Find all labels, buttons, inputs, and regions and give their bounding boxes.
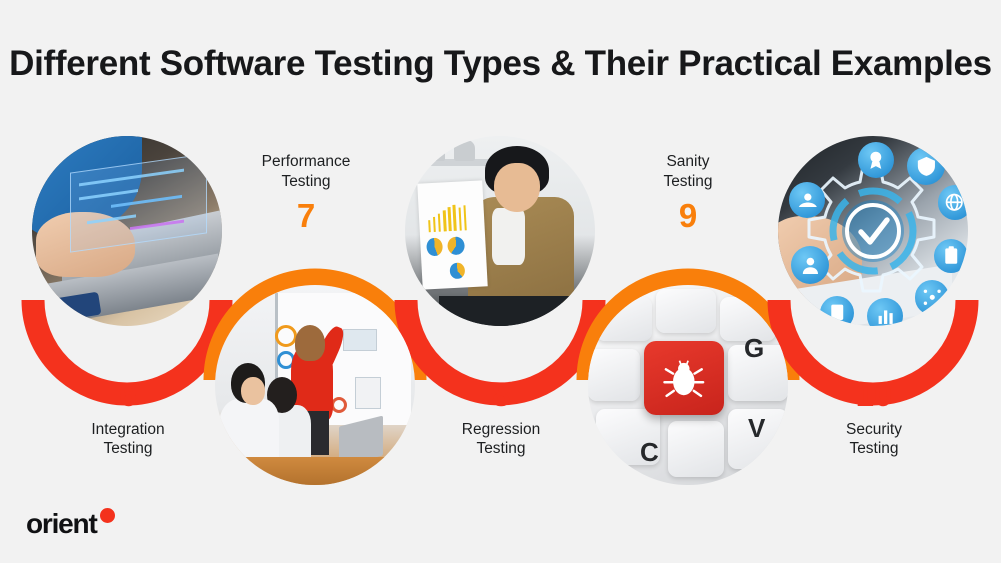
step-number-7: 7 xyxy=(216,199,396,234)
hand-gear-icon xyxy=(789,182,825,218)
step-label-integration-testing: 6 Integration Testing xyxy=(38,378,218,459)
step-label-sanity-testing: Sanity Testing 9 xyxy=(598,152,778,234)
step-caption-line2-6: Testing xyxy=(103,440,152,457)
network-nodes-icon xyxy=(915,280,949,314)
step-image-regression-testing xyxy=(405,136,595,326)
keyboard-key-v: V xyxy=(748,413,765,444)
step-caption-line1-8: Regression xyxy=(462,421,540,438)
step-label-regression-testing: 8 Regression Testing xyxy=(411,378,591,459)
clipboard-icon xyxy=(934,239,968,273)
step-caption-line1-7: Performance xyxy=(262,153,351,170)
logo-dot-icon xyxy=(100,508,115,523)
bug-key xyxy=(644,341,724,415)
document-analytics-icon xyxy=(820,296,854,326)
step-caption-line2-8: Testing xyxy=(476,440,525,457)
infographic-canvas: Different Software Testing Types & Their… xyxy=(0,0,1001,563)
step-caption-line2-10: Testing xyxy=(849,440,898,457)
bug-icon xyxy=(659,355,709,401)
step-number-9: 9 xyxy=(598,199,778,234)
keyboard-key-c: C xyxy=(640,437,659,468)
certificate-badge-icon xyxy=(858,142,894,178)
step-image-integration-testing xyxy=(32,136,222,326)
step-caption-line1-10: Security xyxy=(846,421,902,438)
step-image-performance-testing xyxy=(215,285,415,485)
step-image-sanity-testing: G V C xyxy=(588,285,788,485)
step-label-performance-testing: Performance Testing 7 xyxy=(216,152,396,234)
step-number-6: 6 xyxy=(38,378,218,413)
step-caption-line1-6: Integration xyxy=(91,421,164,438)
step-caption-line1-9: Sanity xyxy=(666,153,709,170)
step-image-security-testing xyxy=(778,136,968,326)
orient-logo[interactable]: orient xyxy=(26,510,115,538)
logo-wordmark: orient xyxy=(26,510,97,538)
keyboard-key-g: G xyxy=(744,333,764,364)
step-label-security-testing: 10 Security Testing xyxy=(784,378,964,459)
step-number-8: 8 xyxy=(411,378,591,413)
step-caption-line2-9: Testing xyxy=(663,173,712,190)
globe-icon xyxy=(938,185,968,219)
step-number-10: 10 xyxy=(784,378,964,413)
step-caption-line2-7: Testing xyxy=(281,173,330,190)
